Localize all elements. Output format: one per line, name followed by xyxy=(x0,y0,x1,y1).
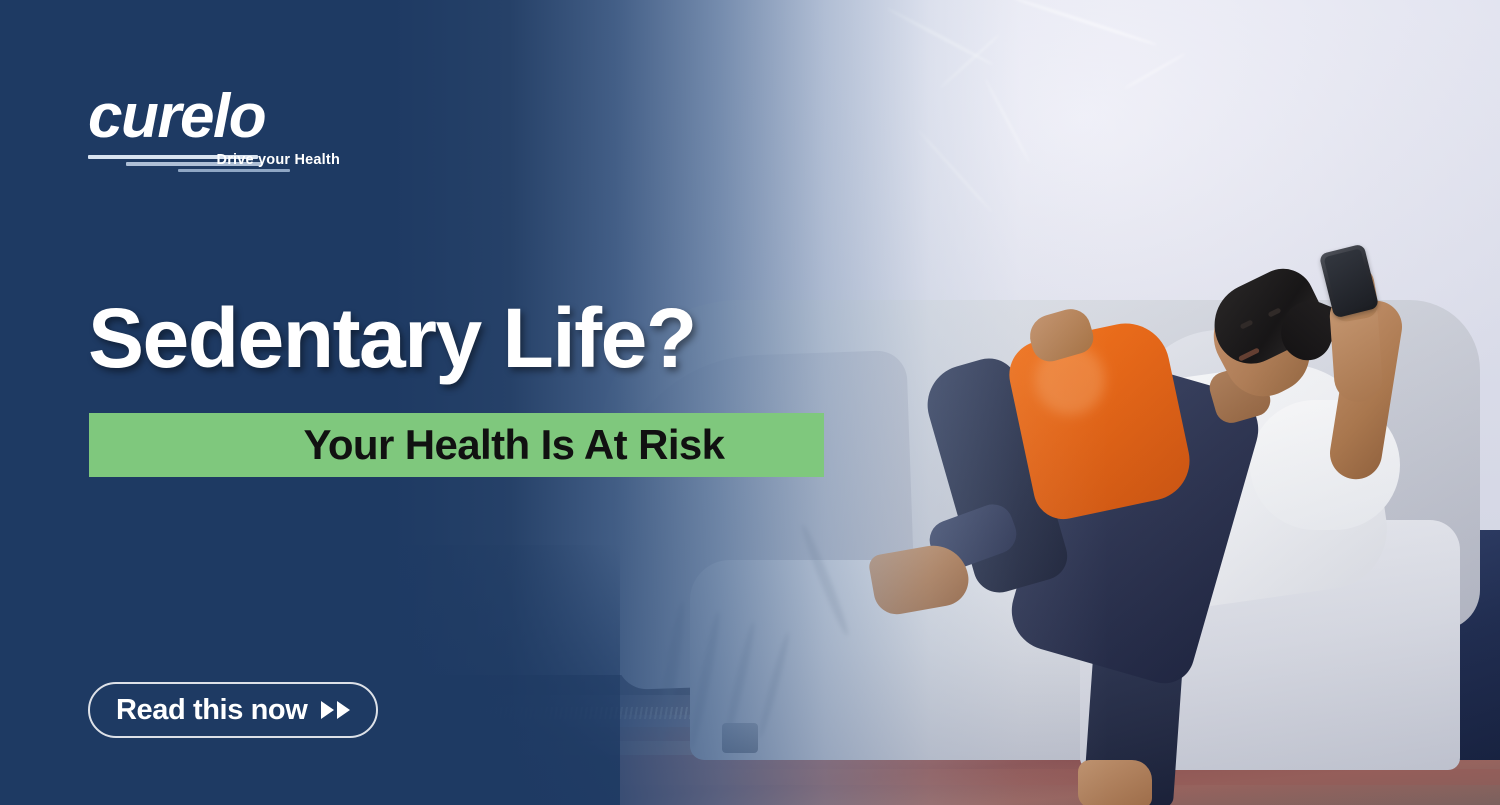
cta-label: Read this now xyxy=(116,694,307,727)
double-play-arrow-icon xyxy=(321,701,350,719)
play-arrow-icon xyxy=(321,701,334,719)
speed-line-icon xyxy=(178,169,290,172)
subtitle-banner: Your Health Is At Risk xyxy=(89,413,824,477)
logo-underline-group: Drive your Health xyxy=(88,150,340,172)
promo-banner: curelo Drive your Health Sedentary Life?… xyxy=(0,0,1500,805)
play-arrow-icon xyxy=(337,701,350,719)
headline: Sedentary Life? xyxy=(88,296,696,380)
brand-tagline: Drive your Health xyxy=(217,152,340,168)
subtitle-text: Your Health Is At Risk xyxy=(189,421,725,469)
brand-logo[interactable]: curelo Drive your Health xyxy=(88,86,348,172)
brand-name: curelo xyxy=(88,86,348,148)
read-this-now-button[interactable]: Read this now xyxy=(88,682,378,738)
banner-content: curelo Drive your Health Sedentary Life?… xyxy=(0,0,1500,805)
